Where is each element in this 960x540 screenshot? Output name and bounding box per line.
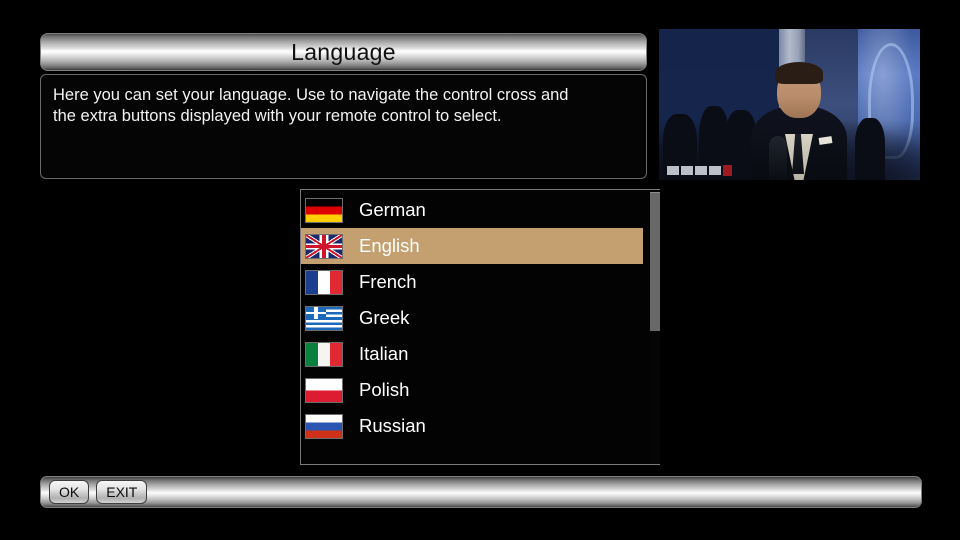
language-label: Italian — [359, 345, 408, 364]
language-row-english[interactable]: English — [301, 228, 643, 264]
flag-france-icon — [305, 270, 343, 295]
flag-united-kingdom-icon — [305, 234, 343, 259]
preview-microphone — [769, 136, 787, 180]
scrollbar-thumb[interactable] — [650, 192, 660, 331]
tv-settings-screen: Language Here you can set your language.… — [0, 0, 960, 540]
language-label: English — [359, 237, 420, 256]
language-row-german[interactable]: German — [301, 192, 643, 228]
watermark-block — [695, 166, 707, 175]
language-row-polish[interactable]: Polish — [301, 372, 643, 408]
watermark-block — [709, 166, 721, 175]
language-list-panel: GermanEnglishFrenchGreekItalianPolishRus… — [300, 189, 660, 465]
flag-greece-icon — [305, 306, 343, 331]
language-list: GermanEnglishFrenchGreekItalianPolishRus… — [301, 192, 643, 444]
watermark-block — [667, 166, 679, 175]
flag-russia-icon — [305, 414, 343, 439]
ok-button-label: OK — [59, 485, 79, 499]
preview-anchor-hair — [775, 62, 823, 84]
live-tv-preview[interactable] — [659, 29, 920, 180]
language-row-russian[interactable]: Russian — [301, 408, 643, 444]
language-row-italian[interactable]: Italian — [301, 336, 643, 372]
help-panel: Here you can set your language. Use to n… — [40, 74, 647, 179]
flag-saltire-red — [306, 235, 342, 258]
exit-button[interactable]: EXIT — [96, 480, 147, 504]
language-row-french[interactable]: French — [301, 264, 643, 300]
flag-saltire-white — [306, 235, 342, 258]
language-label: German — [359, 201, 426, 220]
watermark-block — [681, 166, 693, 175]
broadcast-watermark — [667, 165, 732, 176]
exit-button-label: EXIT — [106, 485, 137, 499]
ok-button[interactable]: OK — [49, 480, 89, 504]
help-text: Here you can set your language. Use to n… — [53, 85, 634, 127]
watermark-badge — [723, 165, 732, 176]
flag-poland-icon — [305, 378, 343, 403]
language-label: Polish — [359, 381, 409, 400]
language-label: Russian — [359, 417, 426, 436]
language-row-greek[interactable]: Greek — [301, 300, 643, 336]
preview-bystander — [855, 118, 885, 180]
bottom-button-bar: OKEXIT — [40, 476, 922, 508]
flag-germany-icon — [305, 198, 343, 223]
flag-italy-icon — [305, 342, 343, 367]
title-bar: Language — [40, 33, 647, 71]
page-title: Language — [291, 41, 396, 64]
language-label: Greek — [359, 309, 409, 328]
language-label: French — [359, 273, 417, 292]
